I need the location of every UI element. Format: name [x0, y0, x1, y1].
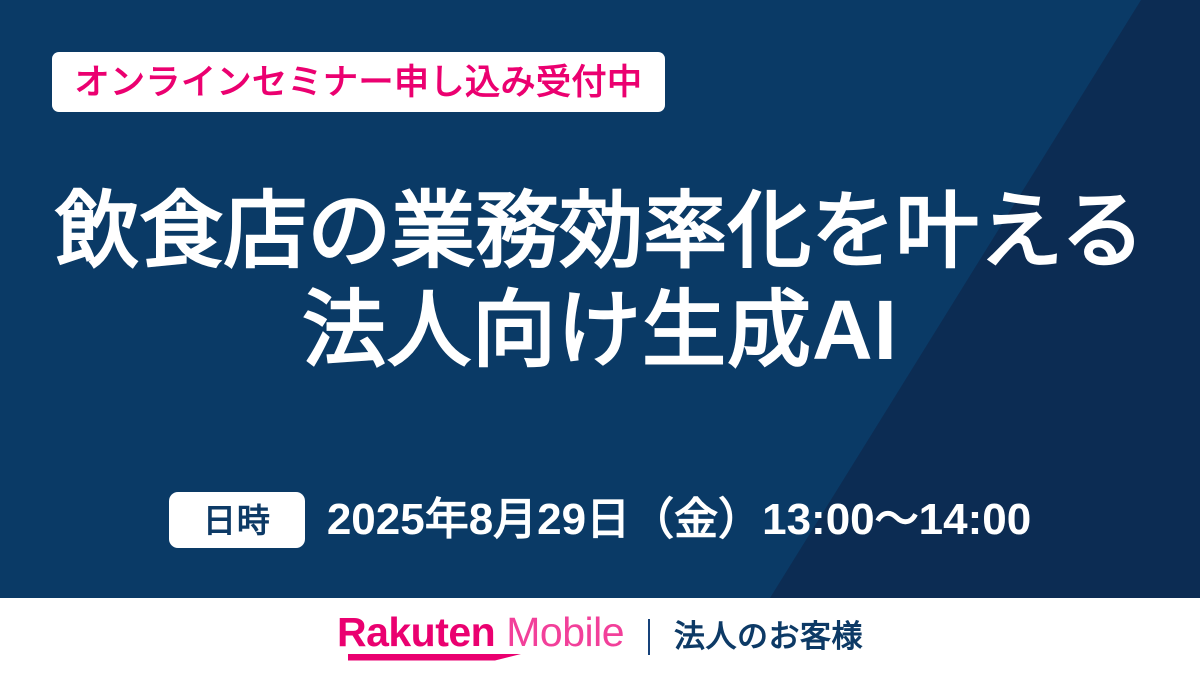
footer-segment-label: 法人のお客様 — [674, 621, 863, 652]
rakuten-wordmark: Rakuten — [337, 612, 495, 653]
page-title: 飲食店の業務効率化を叶える 法人向け生成AI — [0, 182, 1200, 380]
mobile-wordmark: Mobile — [506, 612, 624, 653]
event-datetime-value: 2025年8月29日（金）13:00〜14:00 — [327, 498, 1031, 542]
footer-divider — [648, 619, 650, 655]
rakuten-underline-swoosh — [348, 654, 523, 661]
seminar-status-badge-label: オンラインセミナー申し込み受付中 — [74, 65, 642, 100]
datetime-badge: 日時 — [169, 492, 305, 548]
brand-lockup: Rakuten Mobile 法人のお客様 — [337, 612, 863, 662]
seminar-banner: オンラインセミナー申し込み受付中 飲食店の業務効率化を叶える 法人向け生成AI … — [0, 0, 1200, 675]
event-datetime-row: 日時 2025年8月29日（金）13:00〜14:00 — [0, 492, 1200, 548]
rakuten-mobile-logo: Rakuten Mobile — [337, 612, 624, 662]
headline-line-1: 飲食店の業務効率化を叶える — [0, 182, 1200, 281]
headline-line-2: 法人向け生成AI — [0, 281, 1200, 380]
datetime-badge-label: 日時 — [203, 504, 271, 537]
seminar-status-badge: オンラインセミナー申し込み受付中 — [52, 52, 665, 112]
footer-bar: Rakuten Mobile 法人のお客様 — [0, 598, 1200, 675]
